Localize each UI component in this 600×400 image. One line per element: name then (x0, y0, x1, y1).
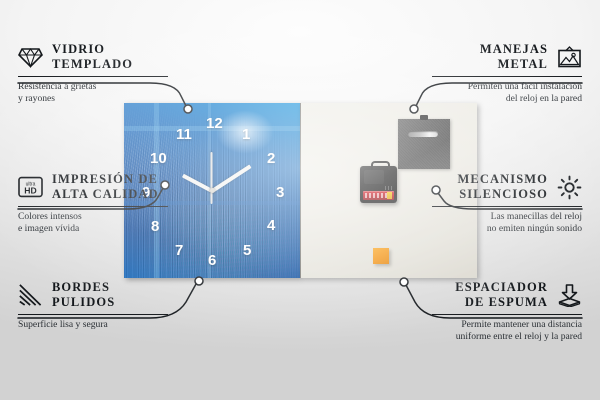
callout-rule (18, 314, 168, 315)
battery-terminal (387, 192, 392, 199)
callout-subtitle: Resistencia a grietas y rayones (18, 81, 168, 107)
callout-title: BORDES PULIDOS (52, 280, 115, 311)
callout-rule (432, 76, 582, 77)
plate-texture (398, 119, 450, 169)
mechanism-handle (371, 161, 390, 170)
clock-numeral-7: 7 (175, 243, 183, 258)
product-images: 12 1 2 3 4 5 6 7 8 9 10 11 (124, 103, 476, 278)
battery-label (363, 191, 394, 200)
plate-slot (408, 131, 438, 137)
clock-numeral-6: 6 (208, 253, 216, 268)
clock-numeral-11: 11 (176, 127, 192, 142)
callout-mecanismo-silencioso[interactable]: MECANISMO SILENCIOSO Las manecillas del … (432, 172, 582, 236)
clock-center-pin (210, 188, 215, 193)
metal-hanger-plate (398, 119, 450, 169)
clock-numeral-4: 4 (267, 218, 275, 233)
callout-rule (432, 314, 582, 315)
callout-rule (18, 76, 168, 77)
callout-title: IMPRESIÓN DE ALTA CALIDAD (52, 172, 159, 203)
callout-bordes-pulidos[interactable]: BORDES PULIDOS Superficie lisa y segura (18, 280, 168, 331)
foam-spacer-icon (557, 283, 582, 308)
callout-manejas-metal[interactable]: MANEJAS METAL Permiten una fácil instala… (432, 42, 582, 106)
quartz-mechanism (360, 166, 397, 203)
clock-numeral-1: 1 (242, 127, 250, 142)
foam-spacer-pad (373, 248, 389, 264)
battery-label-text (365, 193, 387, 198)
callout-subtitle: Colores intensos e imagen vívida (18, 211, 168, 237)
callout-title: ESPACIADOR DE ESPUMA (432, 280, 548, 311)
callout-rule (432, 206, 582, 207)
polished-edges-icon (18, 283, 43, 308)
callout-subtitle: Superficie lisa y segura (18, 319, 168, 332)
callout-vidrio-templado[interactable]: VIDRIO TEMPLADO Resistencia a grietas y … (18, 42, 168, 106)
clock-numeral-12: 12 (206, 116, 223, 131)
callout-title: MECANISMO SILENCIOSO (432, 172, 548, 203)
clock-numeral-10: 10 (150, 151, 167, 166)
infographic-canvas: 12 1 2 3 4 5 6 7 8 9 10 11 (0, 0, 600, 400)
plate-hook (420, 115, 428, 120)
callout-impresion-alta-calidad[interactable]: ultra HD IMPRESIÓN DE ALTA CALIDAD Color… (18, 172, 168, 236)
diamond-icon (18, 45, 43, 70)
ultra-hd-icon: ultra HD (18, 175, 43, 200)
svg-text:HD: HD (24, 186, 36, 196)
mechanism-detail (385, 186, 393, 190)
callout-espaciador-espuma[interactable]: ESPACIADOR DE ESPUMA Permite mantener un… (432, 280, 582, 344)
mechanism-body (364, 170, 384, 184)
callout-title: VIDRIO TEMPLADO (52, 42, 133, 73)
callout-rule (18, 206, 168, 207)
callout-title: MANEJAS METAL (432, 42, 548, 73)
clock-numeral-3: 3 (276, 185, 284, 200)
callout-subtitle: Permite mantener una distancia uniforme … (432, 319, 582, 345)
gear-icon (557, 175, 582, 200)
clock-numeral-5: 5 (243, 243, 251, 258)
clock-numeral-2: 2 (267, 151, 275, 166)
callout-subtitle: Permiten una fácil instalación del reloj… (432, 81, 582, 107)
picture-frame-icon (557, 45, 582, 70)
callout-subtitle: Las manecillas del reloj no emiten ningú… (432, 211, 582, 237)
